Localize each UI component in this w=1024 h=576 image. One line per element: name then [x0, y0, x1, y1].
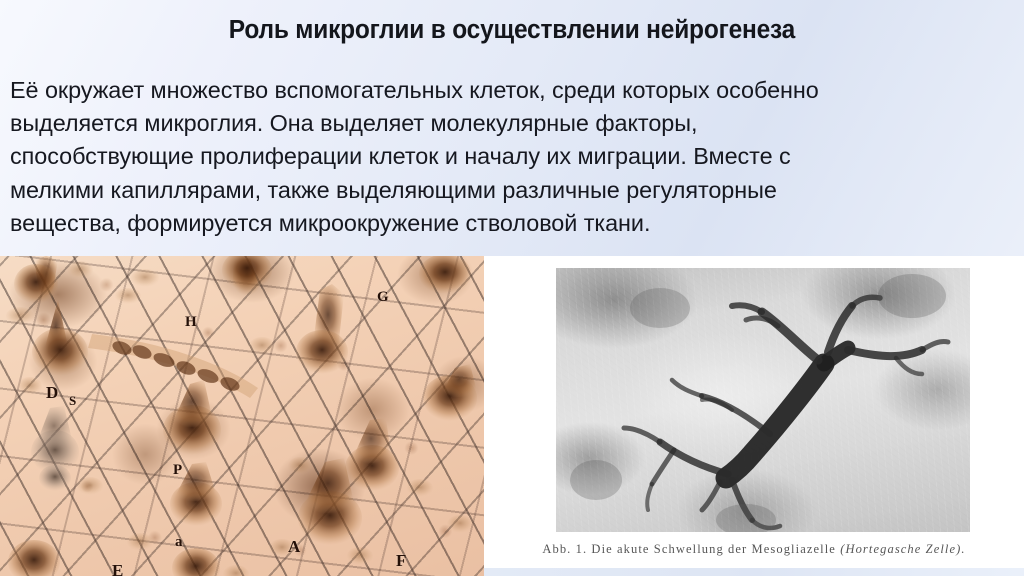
- histology-plate-image: G H D S P a A F E: [0, 256, 484, 576]
- body-line-4: мелкими капиллярами, также выделяющими р…: [10, 174, 966, 207]
- figures-row: G H D S P a A F E: [0, 256, 1024, 576]
- slide-title: Роль микроглии в осуществлении нейрогене…: [0, 16, 1024, 45]
- body-line-5: вещества, формируется микроокружение ств…: [10, 207, 966, 240]
- presentation-slide: Роль микроглии в осуществлении нейрогене…: [0, 0, 1024, 576]
- body-line-1: Её окружает множество вспомогательных кл…: [10, 74, 966, 107]
- capillary: [88, 334, 258, 398]
- glial-nuclei: [6, 261, 473, 576]
- micrograph-caption-italic: (Hortegasche Zelle).: [840, 542, 965, 556]
- microglia-cell: [624, 297, 948, 528]
- micrograph-caption: Abb. 1. Die akute Schwellung der Mesogli…: [484, 542, 1024, 557]
- micrograph-caption-main: Abb. 1. Die akute Schwellung der Mesogli…: [542, 542, 836, 556]
- page-title: Роль микроглии в осуществлении нейрогене…: [229, 16, 795, 45]
- slide-bottom-strip: [484, 568, 1024, 576]
- body-line-2: выделяется микроглия. Она выделяет молек…: [10, 107, 966, 140]
- slide-body-text: Её окружает множество вспомогательных кл…: [10, 74, 966, 240]
- pyramidal-neurons: [8, 256, 478, 576]
- neuron-soma-overlay: [0, 256, 484, 576]
- mesoglia-micrograph-image: [556, 268, 970, 532]
- micrograph-card: Abb. 1. Die akute Schwellung der Mesogli…: [484, 256, 1024, 568]
- microglia-cell-overlay: [556, 268, 970, 532]
- body-line-3: способствующие пролиферации клеток и нач…: [10, 140, 966, 173]
